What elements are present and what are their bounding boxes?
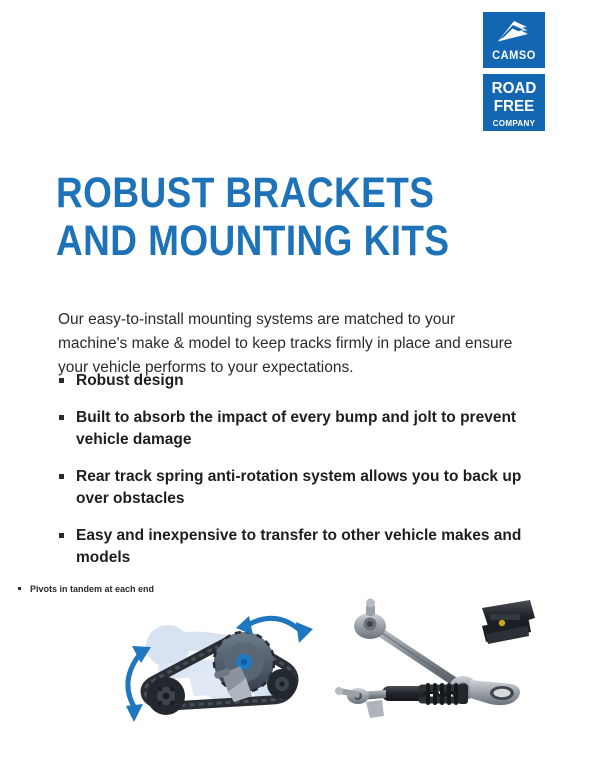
clevis-eyelet — [470, 680, 520, 705]
pivot-arrow-left-head-bottom — [126, 704, 143, 722]
rail-bracket — [482, 600, 535, 644]
mounting-hardware-illustration — [330, 592, 535, 732]
road-free-company-logo: ROAD FREE COMPANY — [483, 74, 545, 131]
page-title-line-1: Robust Brackets — [56, 169, 417, 217]
anti-rotation-spring-assembly — [335, 683, 468, 718]
track-pivot-illustration — [110, 600, 335, 740]
track-pivot-diagram — [110, 600, 335, 740]
camso-wordmark: CAMSO — [485, 49, 542, 61]
camso-chevron-tree-icon — [494, 20, 534, 44]
pivot-arrow-top-head-right — [296, 622, 313, 643]
rear-idler-wheel — [147, 677, 185, 715]
list-item: Built to absorb the impact of every bump… — [58, 407, 528, 451]
footnote-pivots: Pivots in tandem at each end — [18, 583, 154, 595]
road-free-company-wordmark: ROAD FREE COMPANY — [483, 81, 545, 128]
pivot-arrow-top — [246, 618, 302, 632]
mounting-hardware-photo — [330, 592, 535, 732]
page-title: Robust Brackets and Mounting Kits — [56, 169, 476, 265]
feature-list: Robust design Built to absorb the impact… — [58, 370, 528, 584]
brand-logo-stack: CAMSO ROAD FREE COMPANY — [483, 12, 545, 131]
list-item: Rear track spring anti-rotation system a… — [58, 466, 528, 510]
intro-paragraph: Our easy-to-install mounting systems are… — [58, 308, 528, 380]
road-free-line-2: FREE — [485, 99, 544, 115]
camso-logo: CAMSO — [483, 12, 545, 68]
pivot-arrow-left — [128, 654, 140, 710]
list-item: Robust design — [58, 370, 528, 392]
road-free-line-3: COMPANY — [485, 119, 544, 128]
list-item: Easy and inexpensive to transfer to othe… — [58, 525, 528, 569]
road-free-line-1: ROAD — [485, 81, 544, 97]
page-title-line-2: and Mounting Kits — [56, 217, 417, 265]
